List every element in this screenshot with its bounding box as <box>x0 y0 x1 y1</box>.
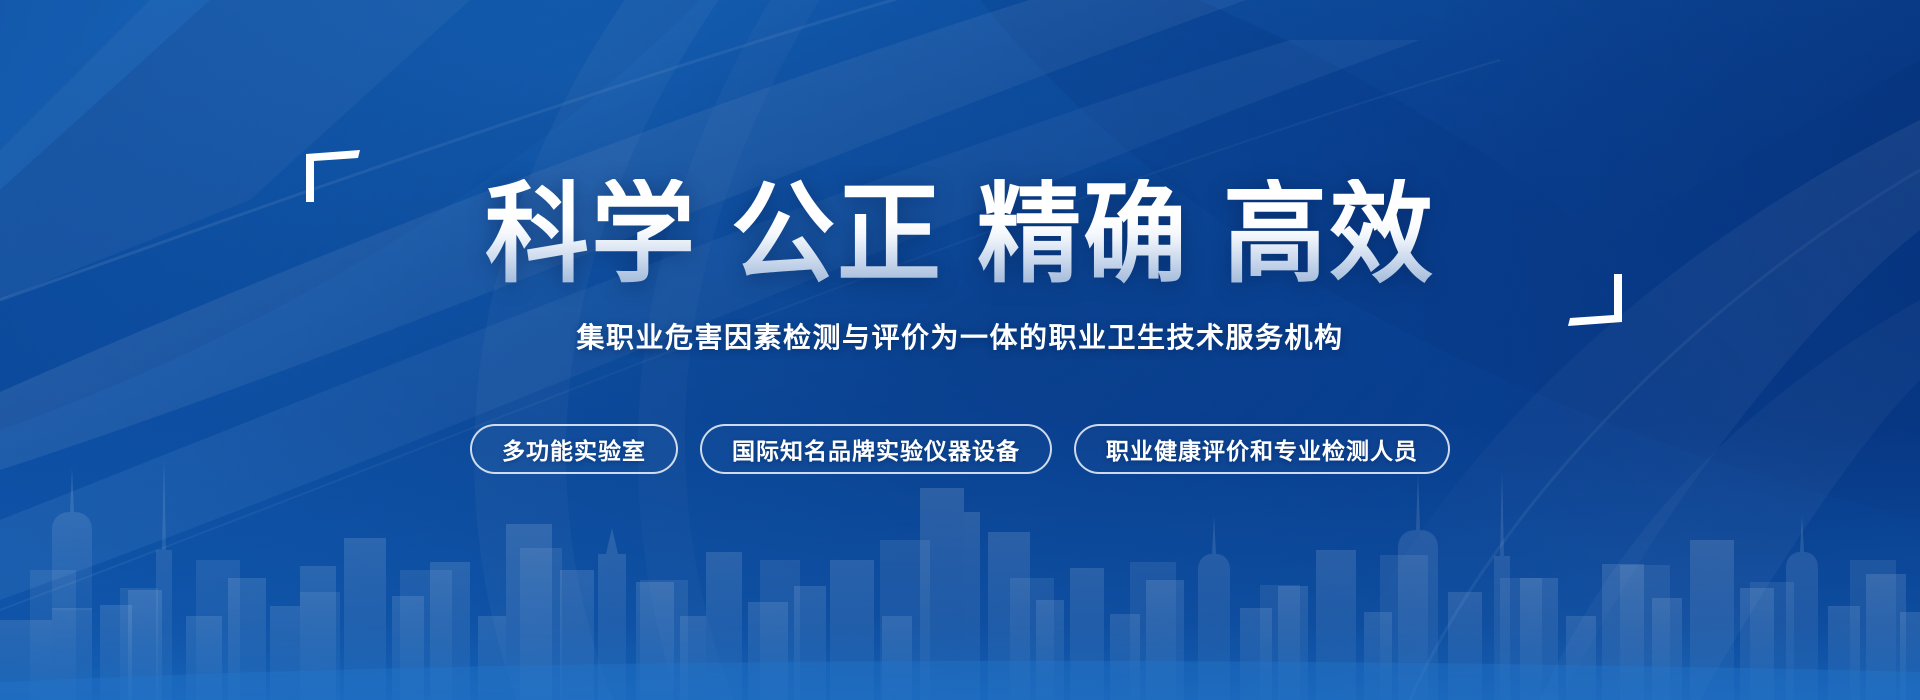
feature-pill-group: 多功能实验室 国际知名品牌实验仪器设备 职业健康评价和专业检测人员 <box>470 424 1450 474</box>
feature-pill-3[interactable]: 职业健康评价和专业检测人员 <box>1074 424 1450 474</box>
headline-word-2: 公正 <box>731 169 943 298</box>
page-title: 科学公正精确高效 <box>485 179 1435 289</box>
feature-pill-3-label: 职业健康评价和专业检测人员 <box>1106 432 1418 466</box>
feature-pill-1[interactable]: 多功能实验室 <box>470 424 678 474</box>
headline-word-4: 高效 <box>1223 169 1435 298</box>
headline-block: 科学公正精确高效 <box>340 168 1580 300</box>
feature-pill-2-label: 国际知名品牌实验仪器设备 <box>732 432 1020 466</box>
hero-banner: 科学公正精确高效 集职业危害因素检测与评价为一体的职业卫生技术服务机构 多功能实… <box>0 0 1920 700</box>
headline-word-1: 科学 <box>485 169 697 298</box>
headline-word-3: 精确 <box>977 169 1189 298</box>
subtitle: 集职业危害因素检测与评价为一体的职业卫生技术服务机构 <box>576 316 1343 356</box>
corner-bracket-top-left-icon <box>304 150 362 204</box>
feature-pill-2[interactable]: 国际知名品牌实验仪器设备 <box>700 424 1052 474</box>
banner-content: 科学公正精确高效 集职业危害因素检测与评价为一体的职业卫生技术服务机构 多功能实… <box>0 0 1920 700</box>
feature-pill-1-label: 多功能实验室 <box>502 432 646 466</box>
corner-bracket-bottom-right-icon <box>1566 272 1624 326</box>
